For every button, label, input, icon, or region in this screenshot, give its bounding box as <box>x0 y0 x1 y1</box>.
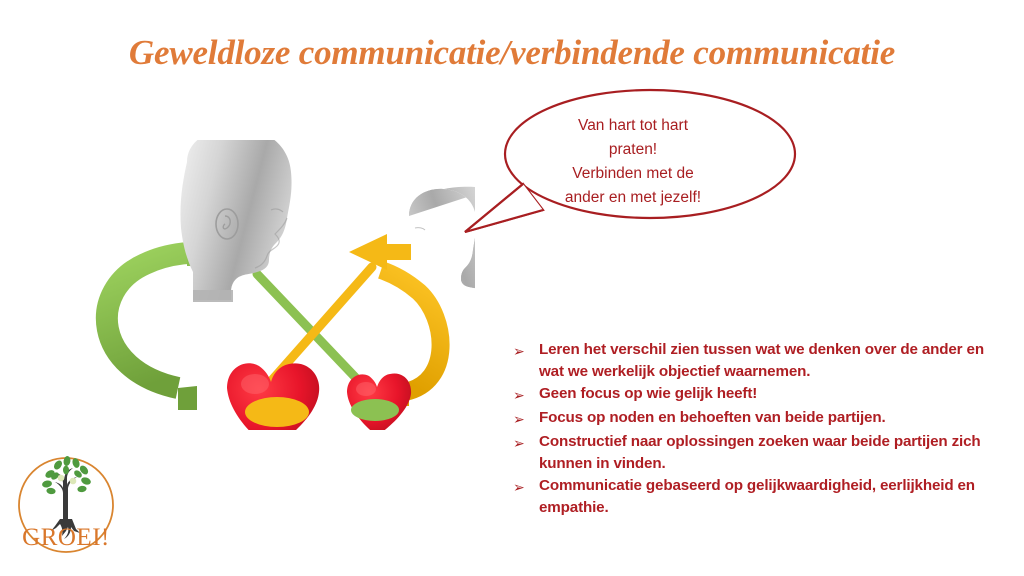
speech-bubble-line-1: Van hart tot hart <box>527 114 739 138</box>
heart-small-right <box>347 373 411 430</box>
list-item-text: Constructief naar oplossingen zoeken waa… <box>539 431 1003 474</box>
arrow-bullet-icon: ➢ <box>513 339 539 362</box>
list-item: ➢ Focus op noden en behoeften van beide … <box>513 407 1003 430</box>
groei-logo-svg: GROEI! <box>14 443 119 561</box>
arrow-bullet-icon: ➢ <box>513 383 539 406</box>
bullet-list: ➢ Leren het verschil zien tussen wat we … <box>513 339 1003 519</box>
slide-canvas: Geweldloze communicatie/verbindende comm… <box>0 0 1024 576</box>
list-item: ➢ Leren het verschil zien tussen wat we … <box>513 339 1003 382</box>
communication-diagram <box>75 140 475 430</box>
speech-bubble: Van hart tot hart praten! Verbinden met … <box>455 88 805 238</box>
speech-bubble-text: Van hart tot hart praten! Verbinden met … <box>527 114 739 210</box>
groei-logo: GROEI! <box>14 443 119 561</box>
arrow-bullet-icon: ➢ <box>513 407 539 430</box>
speech-bubble-line-4: ander en met jezelf! <box>527 186 739 210</box>
head-profile-large <box>180 140 291 302</box>
list-item-text: Focus op noden en behoeften van beide pa… <box>539 407 1003 429</box>
page-title: Geweldloze communicatie/verbindende comm… <box>0 33 1024 73</box>
speech-bubble-line-3: Verbinden met de <box>527 162 739 186</box>
list-item: ➢ Constructief naar oplossingen zoeken w… <box>513 431 1003 474</box>
speech-bubble-line-2: praten! <box>527 138 739 162</box>
list-item: ➢ Communicatie gebaseerd op gelijkwaardi… <box>513 475 1003 518</box>
list-item-text: Geen focus op wie gelijk heeft! <box>539 383 1003 405</box>
communication-diagram-svg <box>75 140 475 430</box>
arrow-bullet-icon: ➢ <box>513 431 539 454</box>
list-item: ➢ Geen focus op wie gelijk heeft! <box>513 383 1003 406</box>
list-item-text: Leren het verschil zien tussen wat we de… <box>539 339 1003 382</box>
arrow-bullet-icon: ➢ <box>513 475 539 498</box>
list-item-text: Communicatie gebaseerd op gelijkwaardigh… <box>539 475 1003 518</box>
logo-text: GROEI! <box>22 524 110 551</box>
